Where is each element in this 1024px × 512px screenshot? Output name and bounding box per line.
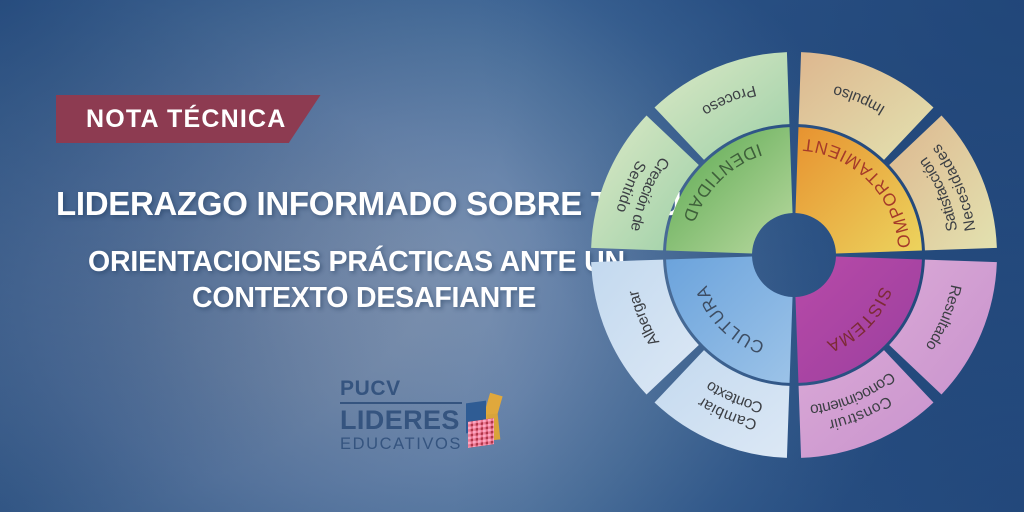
logo-line-educativos: EDUCATIVOS xyxy=(340,434,462,453)
logo-divider xyxy=(340,402,462,404)
logo-line-lideres: LIDERES xyxy=(340,407,462,434)
poster-canvas: NOTA TÉCNICA LIDERAZGO INFORMADO SOBRE T… xyxy=(0,0,1024,512)
page-subtitle-1: ORIENTACIONES PRÁCTICAS ANTE UN xyxy=(88,246,625,279)
badge-label: NOTA TÉCNICA xyxy=(86,105,287,134)
page-subtitle-2: CONTEXTO DESAFIANTE xyxy=(192,282,536,315)
logo-line-pucv: PUCV xyxy=(340,378,462,402)
logo-wordmark: PUCV LIDERES EDUCATIVOS xyxy=(340,378,462,453)
nota-tecnica-badge: NOTA TÉCNICA xyxy=(56,95,321,143)
wheel-core-identidad[interactable] xyxy=(666,127,792,253)
wheel-quadrant-identidad[interactable]: Creación deSentidoProcesoIDENTIDAD xyxy=(591,52,792,253)
wheel-quadrant-sistema[interactable]: ResultadoConstruirConocimientoSISTEMA xyxy=(795,256,996,457)
logo-shape-red xyxy=(468,418,494,448)
wheel-quadrant-cultura[interactable]: CambiarContextoAlbergarCULTURA xyxy=(591,256,792,457)
logo-mark-icon xyxy=(464,390,506,450)
pucv-lideres-educativos-logo: PUCV LIDERES EDUCATIVOS xyxy=(340,378,506,453)
trauma-informed-leadership-wheel: Creación deSentidoProcesoIDENTIDADImpuls… xyxy=(591,52,997,458)
wheel-svg: Creación deSentidoProcesoIDENTIDADImpuls… xyxy=(591,52,997,458)
